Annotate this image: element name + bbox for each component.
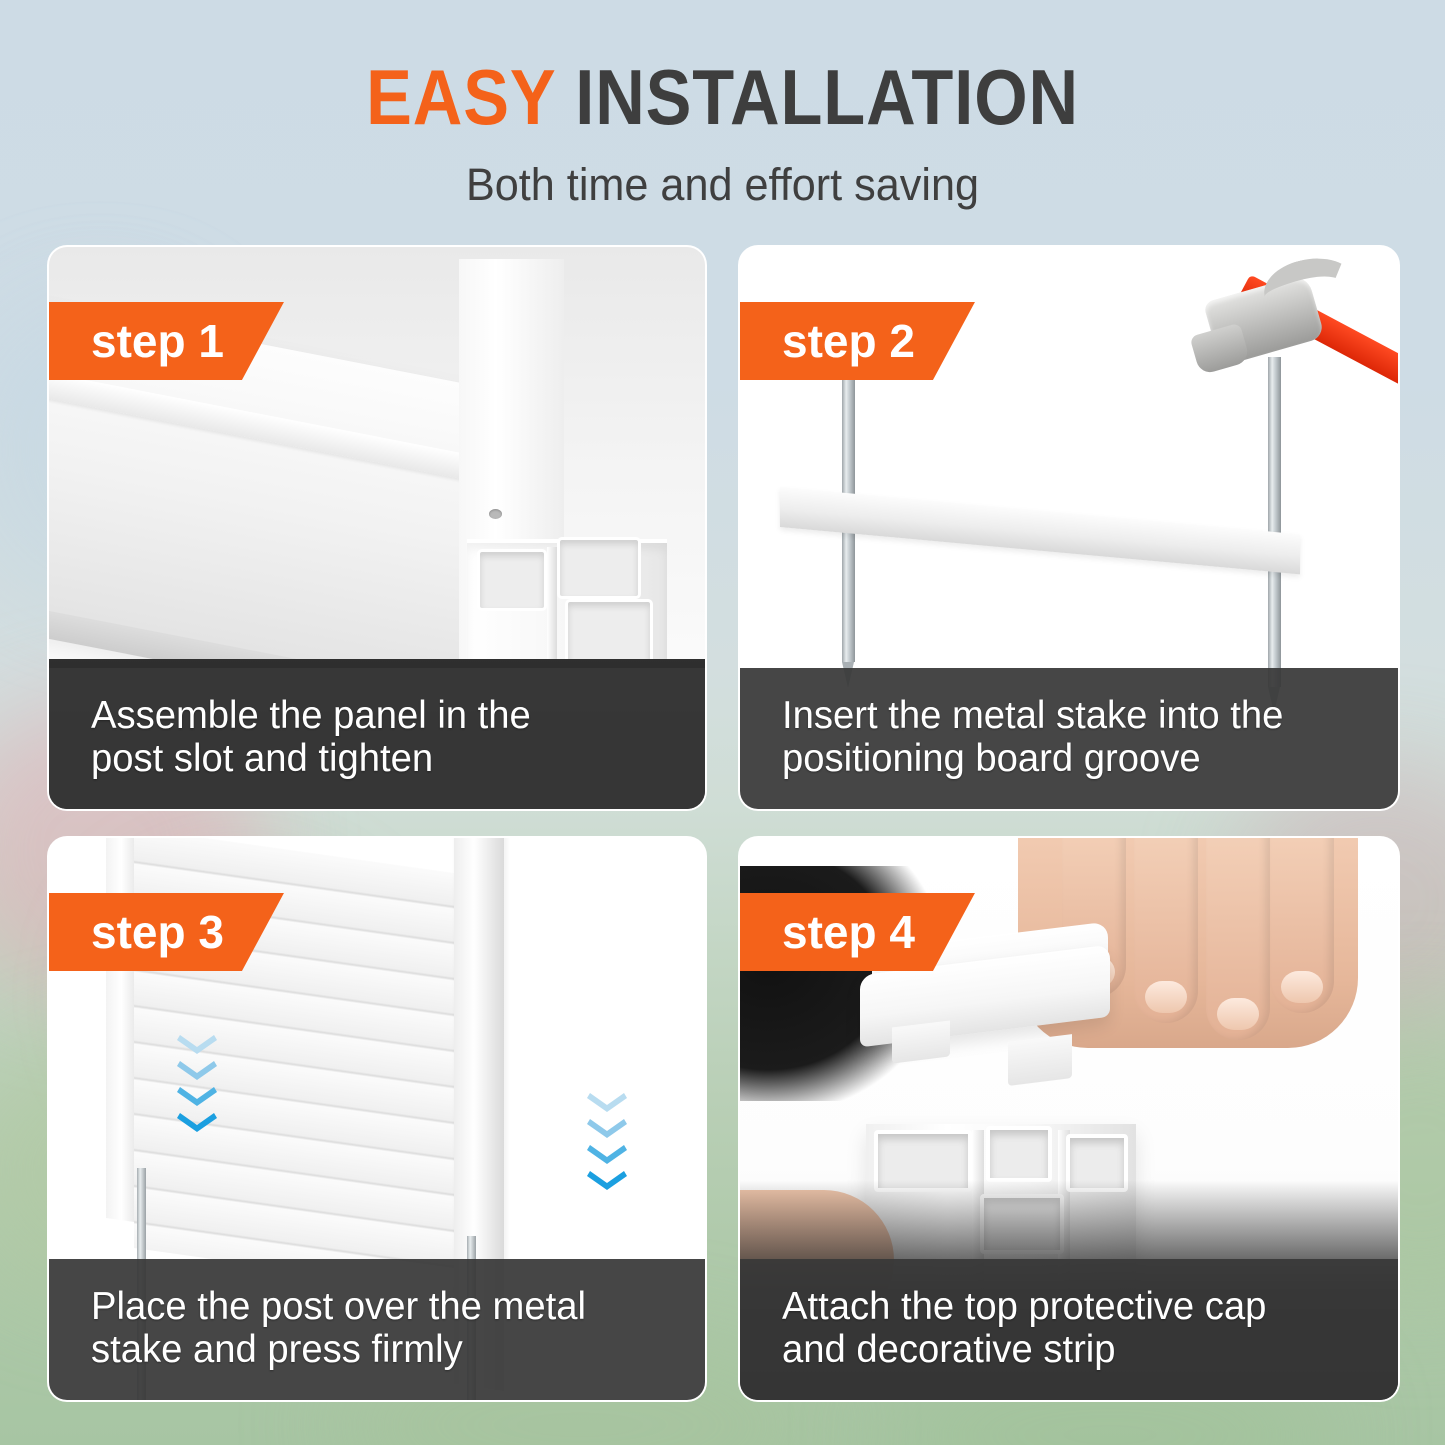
screw-hole-icon xyxy=(489,509,502,519)
step-3-caption-line1: Place the post over the metal xyxy=(91,1285,693,1329)
post-cavity xyxy=(557,537,641,599)
chevron-down-icon xyxy=(587,1145,627,1164)
down-arrow-group-right xyxy=(587,1093,627,1190)
step-2-caption: Insert the metal stake into the position… xyxy=(740,668,1398,809)
step-4-caption: Attach the top protective cap and decora… xyxy=(740,1259,1398,1400)
fingernail xyxy=(1217,998,1259,1030)
step-4-caption-line2: and decorative strip xyxy=(782,1328,1386,1372)
page-title: EASY INSTALLATION xyxy=(87,58,1359,136)
page-subtitle: Both time and effort saving xyxy=(29,162,1416,207)
chevron-down-icon xyxy=(587,1171,627,1190)
step-2-badge-label: step 2 xyxy=(782,318,915,364)
step-2-caption-line1: Insert the metal stake into the xyxy=(782,694,1386,738)
down-arrow-group-left xyxy=(177,1035,217,1132)
hammer-icon xyxy=(1176,257,1398,427)
step-2-caption-line2: positioning board groove xyxy=(782,737,1386,781)
chevron-down-icon xyxy=(177,1113,217,1132)
fingernail xyxy=(1145,981,1187,1013)
cap-lug xyxy=(1008,1034,1072,1086)
step-1-caption-line2: post slot and tighten xyxy=(91,737,693,781)
title-rest-word: INSTALLATION xyxy=(575,53,1079,141)
step-card-4[interactable]: step 4 Attach the top protective cap and… xyxy=(738,836,1400,1402)
steps-grid: step 1 Assemble the panel in the post sl… xyxy=(47,245,1400,1402)
step-card-3[interactable]: step 3 Place the post over the metal sta… xyxy=(47,836,707,1402)
chevron-down-icon xyxy=(177,1035,217,1054)
cap-lug xyxy=(892,1020,950,1063)
fingernail xyxy=(1281,971,1323,1003)
step-3-badge-label: step 3 xyxy=(91,909,224,955)
chevron-down-icon xyxy=(177,1087,217,1106)
header: EASY INSTALLATION Both time and effort s… xyxy=(0,0,1445,207)
step-4-badge-label: step 4 xyxy=(782,909,915,955)
step-card-2[interactable]: step 2 Insert the metal stake into the p… xyxy=(738,245,1400,811)
chevron-down-icon xyxy=(587,1093,627,1112)
post-cavity xyxy=(477,549,547,611)
step-3-caption-line2: stake and press firmly xyxy=(91,1328,693,1372)
step-1-caption-line1: Assemble the panel in the xyxy=(91,694,693,738)
finger xyxy=(1270,838,1334,1013)
step-3-caption: Place the post over the metal stake and … xyxy=(49,1259,705,1400)
step-1-caption: Assemble the panel in the post slot and … xyxy=(49,668,705,809)
chevron-down-icon xyxy=(177,1061,217,1080)
hammer-face xyxy=(1189,323,1250,376)
step-1-badge-label: step 1 xyxy=(91,318,224,364)
chevron-down-icon xyxy=(587,1119,627,1138)
title-accent-word: EASY xyxy=(366,53,555,141)
hammer-claw xyxy=(1258,249,1361,328)
finger xyxy=(1134,838,1198,1023)
post-cavity xyxy=(986,1126,1052,1182)
step-4-caption-line1: Attach the top protective cap xyxy=(782,1285,1386,1329)
step-card-1[interactable]: step 1 Assemble the panel in the post sl… xyxy=(47,245,707,811)
finger xyxy=(1206,838,1270,1040)
